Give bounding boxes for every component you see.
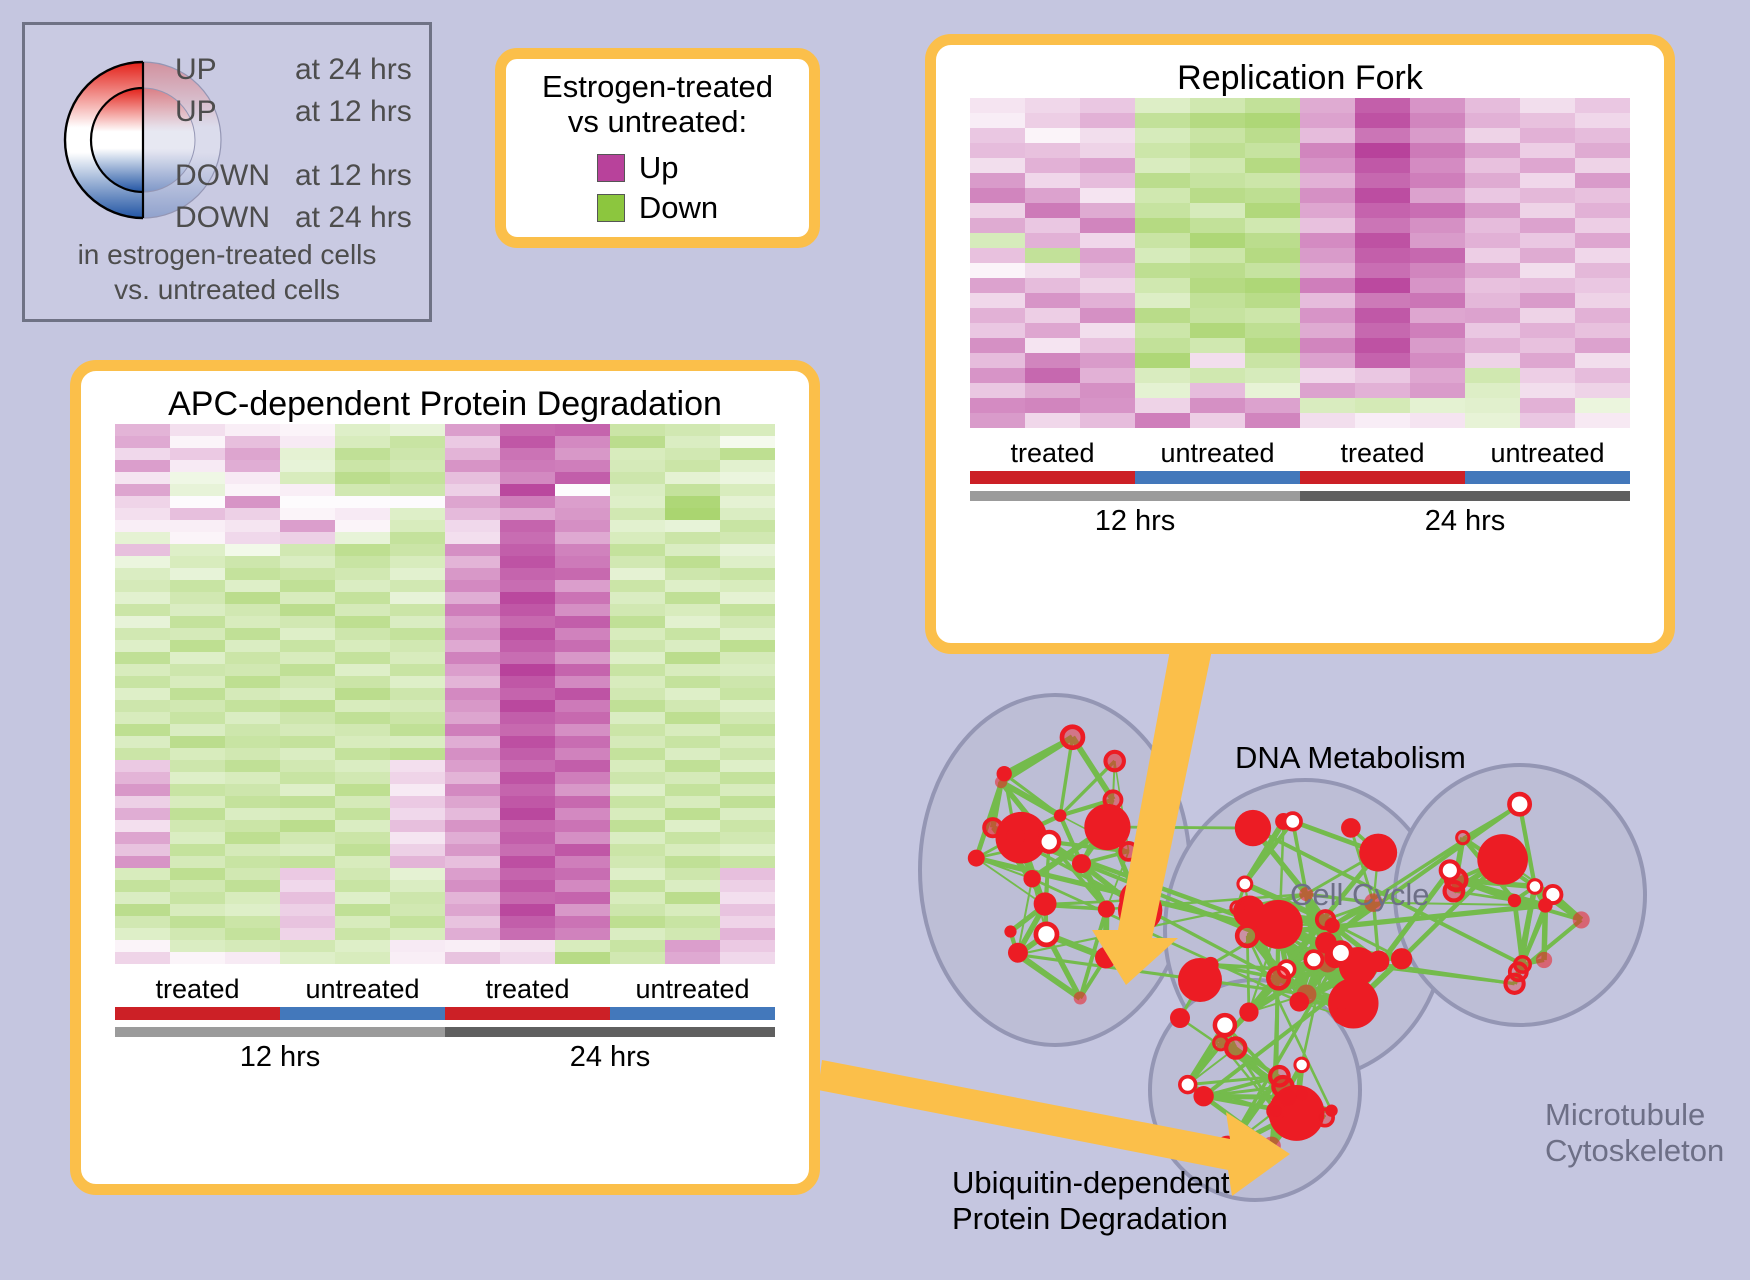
- heatmap-cell: [1245, 233, 1300, 248]
- heatmap-cell: [390, 520, 445, 532]
- heatmap-cell: [390, 832, 445, 844]
- heatmap-cell: [1520, 383, 1575, 398]
- heatmap-cell: [1025, 203, 1080, 218]
- heatmap-cell: [115, 712, 170, 724]
- heatmap-cell: [1135, 338, 1190, 353]
- heatmap-cell: [225, 628, 280, 640]
- network-node: [1368, 951, 1390, 973]
- down-label: Down: [639, 190, 718, 226]
- heatmap-cell: [1410, 293, 1465, 308]
- heatmap-cell: [610, 772, 665, 784]
- heatmap-cell: [1245, 323, 1300, 338]
- heatmap-cell: [1300, 383, 1355, 398]
- network-node: [1098, 901, 1115, 918]
- heatmap-cell: [1080, 323, 1135, 338]
- heatmap-cell: [280, 652, 335, 664]
- heatmap-cell: [665, 556, 720, 568]
- heatmap-cell: [335, 616, 390, 628]
- heatmap-cell: [610, 712, 665, 724]
- heatmap-cell: [1575, 98, 1630, 113]
- heatmap-cell: [225, 832, 280, 844]
- heatmap-cell: [720, 556, 775, 568]
- heatmap-cell: [970, 248, 1025, 263]
- heatmap-cell: [170, 772, 225, 784]
- heatmap-cell: [1080, 368, 1135, 383]
- heatmap-cell: [720, 856, 775, 868]
- heatmap-cell: [555, 916, 610, 928]
- heatmap-cell: [280, 580, 335, 592]
- heatmap-cell: [1355, 413, 1410, 428]
- heatmap-cell: [610, 748, 665, 760]
- heatmap-cell: [335, 556, 390, 568]
- heatmap-cell: [665, 580, 720, 592]
- heatmap-cell: [225, 592, 280, 604]
- heatmap-cell: [1190, 308, 1245, 323]
- heatmap-cell: [1300, 203, 1355, 218]
- heatmap-cell: [1410, 383, 1465, 398]
- heatmap-cell: [115, 916, 170, 928]
- heatmap-cell: [115, 904, 170, 916]
- network-node: [1105, 752, 1123, 770]
- heatmap-cell: [1025, 113, 1080, 128]
- heatmap-cell: [335, 592, 390, 604]
- heatmap-cell: [665, 796, 720, 808]
- rf-cond-1: untreated: [1135, 438, 1300, 469]
- network-node: [1538, 898, 1553, 913]
- network-node: [1006, 827, 1025, 846]
- heatmap-cell: [665, 700, 720, 712]
- replication-fork-heatmap: [970, 98, 1630, 428]
- heatmap-cell: [280, 844, 335, 856]
- heatmap-cell: [1300, 233, 1355, 248]
- heatmap-cell: [610, 736, 665, 748]
- heatmap-cell: [610, 916, 665, 928]
- heatmap-cell: [1520, 338, 1575, 353]
- updown-legend-item-up: Up: [597, 150, 718, 186]
- apc-cond-2: treated: [445, 974, 610, 1005]
- heatmap-cell: [500, 724, 555, 736]
- heatmap-cell: [500, 580, 555, 592]
- heatmap-cell: [1190, 98, 1245, 113]
- heatmap-cell: [1465, 398, 1520, 413]
- heatmap-cell: [1575, 278, 1630, 293]
- heatmap-cell: [720, 784, 775, 796]
- heatmap-cell: [280, 496, 335, 508]
- network-node: [1095, 947, 1117, 969]
- heatmap-cell: [665, 892, 720, 904]
- heatmap-cell: [335, 808, 390, 820]
- heatmap-cell: [610, 940, 665, 952]
- heatmap-cell: [115, 676, 170, 688]
- heatmap-cell: [225, 484, 280, 496]
- heatmap-cell: [720, 508, 775, 520]
- network-node: [1226, 1038, 1245, 1057]
- heatmap-cell: [1355, 218, 1410, 233]
- heatmap-cell: [115, 544, 170, 556]
- heatmap-cell: [500, 832, 555, 844]
- heatmap-cell: [555, 724, 610, 736]
- heatmap-cell: [280, 484, 335, 496]
- heatmap-cell: [500, 532, 555, 544]
- heatmap-cell: [500, 436, 555, 448]
- heatmap-cell: [555, 460, 610, 472]
- rf-cond-0: treated: [970, 438, 1135, 469]
- heatmap-cell: [390, 508, 445, 520]
- heatmap-cell: [170, 760, 225, 772]
- heatmap-cell: [1410, 413, 1465, 428]
- heatmap-cell: [225, 664, 280, 676]
- heatmap-cell: [1300, 248, 1355, 263]
- heatmap-cell: [555, 772, 610, 784]
- rf-cond-3: untreated: [1465, 438, 1630, 469]
- heatmap-cell: [335, 772, 390, 784]
- heatmap-cell: [1410, 368, 1465, 383]
- heatmap-cell: [115, 652, 170, 664]
- network-node: [1341, 818, 1361, 838]
- heatmap-cell: [1025, 323, 1080, 338]
- heatmap-cell: [500, 952, 555, 964]
- heatmap-cell: [1465, 188, 1520, 203]
- heatmap-cell: [665, 928, 720, 940]
- heatmap-cell: [1575, 203, 1630, 218]
- heatmap-cell: [335, 568, 390, 580]
- heatmap-cell: [1465, 263, 1520, 278]
- heatmap-cell: [500, 460, 555, 472]
- heatmap-cell: [720, 700, 775, 712]
- heatmap-cell: [1025, 158, 1080, 173]
- heatmap-cell: [610, 592, 665, 604]
- heatmap-cell: [1355, 278, 1410, 293]
- heatmap-cell: [1080, 158, 1135, 173]
- heatmap-cell: [1410, 308, 1465, 323]
- heatmap-cell: [555, 520, 610, 532]
- heatmap-cell: [170, 448, 225, 460]
- heatmap-cell: [500, 664, 555, 676]
- heatmap-cell: [280, 892, 335, 904]
- heatmap-cell: [720, 736, 775, 748]
- heatmap-cell: [1465, 233, 1520, 248]
- heatmap-cell: [335, 736, 390, 748]
- heatmap-cell: [170, 892, 225, 904]
- heatmap-cell: [1465, 293, 1520, 308]
- heatmap-cell: [445, 676, 500, 688]
- heatmap-cell: [1135, 203, 1190, 218]
- network-node: [1441, 861, 1459, 879]
- heatmap-cell: [720, 496, 775, 508]
- heatmap-cell: [970, 308, 1025, 323]
- network-node: [1215, 1015, 1235, 1035]
- heatmap-cell: [720, 832, 775, 844]
- heatmap-cell: [500, 820, 555, 832]
- heatmap-cell: [1190, 383, 1245, 398]
- network-node: [1508, 894, 1521, 907]
- heatmap-cell: [555, 820, 610, 832]
- heatmap-cell: [115, 568, 170, 580]
- heatmap-cell: [280, 772, 335, 784]
- heatmap-cell: [1300, 353, 1355, 368]
- heatmap-cell: [1245, 158, 1300, 173]
- updown-legend-items: Up Down: [597, 146, 718, 226]
- network-node: [1305, 951, 1322, 968]
- heatmap-cell: [1520, 398, 1575, 413]
- heatmap-cell: [1355, 308, 1410, 323]
- heatmap-cell: [115, 700, 170, 712]
- heatmap-cell: [1190, 188, 1245, 203]
- heatmap-cell: [225, 928, 280, 940]
- heatmap-cell: [390, 640, 445, 652]
- network-node: [1509, 794, 1529, 814]
- heatmap-cell: [335, 784, 390, 796]
- heatmap-cell: [445, 856, 500, 868]
- heatmap-cell: [1520, 323, 1575, 338]
- heatmap-cell: [720, 568, 775, 580]
- heatmap-cell: [225, 880, 280, 892]
- heatmap-cell: [1355, 188, 1410, 203]
- heatmap-cell: [335, 628, 390, 640]
- heatmap-cell: [1245, 338, 1300, 353]
- heatmap-cell: [280, 916, 335, 928]
- heatmap-cell: [1245, 383, 1300, 398]
- heatmap-cell: [1575, 218, 1630, 233]
- heatmap-cell: [225, 604, 280, 616]
- heatmap-cell: [1135, 353, 1190, 368]
- heatmap-cell: [1080, 308, 1135, 323]
- heatmap-cell: [1135, 248, 1190, 263]
- heatmap-cell: [555, 640, 610, 652]
- heatmap-cell: [280, 748, 335, 760]
- heatmap-cell: [170, 832, 225, 844]
- heatmap-cell: [555, 712, 610, 724]
- heatmap-cell: [720, 628, 775, 640]
- heatmap-cell: [970, 353, 1025, 368]
- heatmap-cell: [1465, 383, 1520, 398]
- heatmap-cell: [445, 772, 500, 784]
- heatmap-cell: [1575, 128, 1630, 143]
- heatmap-cell: [720, 472, 775, 484]
- heatmap-cell: [1410, 143, 1465, 158]
- network-node: [1170, 1008, 1190, 1028]
- heatmap-cell: [335, 712, 390, 724]
- heatmap-cell: [1245, 368, 1300, 383]
- heatmap-cell: [335, 904, 390, 916]
- heatmap-cell: [390, 880, 445, 892]
- heatmap-cell: [500, 892, 555, 904]
- heatmap-cell: [225, 808, 280, 820]
- apc-heatmap: [115, 424, 775, 964]
- heatmap-cell: [665, 640, 720, 652]
- heatmap-cell: [1300, 293, 1355, 308]
- heatmap-cell: [1575, 293, 1630, 308]
- heatmap-cell: [1080, 113, 1135, 128]
- heatmap-cell: [720, 772, 775, 784]
- network-node: [1231, 902, 1243, 914]
- heatmap-cell: [225, 616, 280, 628]
- heatmap-cell: [1080, 263, 1135, 278]
- heatmap-cell: [225, 640, 280, 652]
- heatmap-cell: [665, 844, 720, 856]
- heatmap-cell: [1300, 308, 1355, 323]
- heatmap-cell: [335, 868, 390, 880]
- heatmap-cell: [1135, 128, 1190, 143]
- heatmap-cell: [115, 628, 170, 640]
- heatmap-cell: [1355, 383, 1410, 398]
- rf-bar-treated-24: [1300, 471, 1465, 484]
- apc-cond-3: untreated: [610, 974, 775, 1005]
- heatmap-cell: [445, 544, 500, 556]
- heatmap-cell: [390, 544, 445, 556]
- heatmap-cell: [445, 460, 500, 472]
- network-node: [1203, 957, 1219, 973]
- heatmap-cell: [610, 496, 665, 508]
- heatmap-cell: [225, 892, 280, 904]
- heatmap-cell: [390, 580, 445, 592]
- heatmap-cell: [1410, 158, 1465, 173]
- heatmap-cell: [280, 640, 335, 652]
- heatmap-cell: [280, 808, 335, 820]
- apc-bar-24hrs: [445, 1027, 775, 1037]
- heatmap-cell: [170, 688, 225, 700]
- heatmap-cell: [170, 808, 225, 820]
- heatmap-cell: [970, 368, 1025, 383]
- heatmap-cell: [445, 868, 500, 880]
- heatmap-cell: [665, 508, 720, 520]
- heatmap-cell: [555, 484, 610, 496]
- heatmap-cell: [500, 508, 555, 520]
- heatmap-cell: [335, 676, 390, 688]
- heatmap-cell: [170, 700, 225, 712]
- heatmap-cell: [115, 460, 170, 472]
- heatmap-cell: [555, 832, 610, 844]
- heatmap-cell: [610, 568, 665, 580]
- heatmap-cell: [225, 472, 280, 484]
- heatmap-cell: [555, 760, 610, 772]
- apc-bar-untreated-24: [610, 1007, 775, 1020]
- heatmap-cell: [280, 556, 335, 568]
- network-node: [1238, 877, 1252, 891]
- heatmap-cell: [170, 796, 225, 808]
- heatmap-cell: [970, 398, 1025, 413]
- heatmap-cell: [335, 940, 390, 952]
- heatmap-cell: [1520, 233, 1575, 248]
- heatmap-cell: [1245, 173, 1300, 188]
- heatmap-cell: [225, 700, 280, 712]
- heatmap-cell: [555, 688, 610, 700]
- heatmap-cell: [445, 616, 500, 628]
- network-node: [1505, 975, 1523, 993]
- heatmap-cell: [115, 520, 170, 532]
- colorwheel-time-up24: at 24 hrs: [295, 53, 412, 87]
- heatmap-cell: [970, 113, 1025, 128]
- heatmap-cell: [1080, 293, 1135, 308]
- heatmap-cell: [665, 532, 720, 544]
- heatmap-cell: [225, 844, 280, 856]
- heatmap-cell: [335, 892, 390, 904]
- heatmap-cell: [1135, 143, 1190, 158]
- heatmap-cell: [1520, 143, 1575, 158]
- network-node: [1317, 1109, 1333, 1125]
- heatmap-cell: [170, 568, 225, 580]
- heatmap-cell: [555, 544, 610, 556]
- heatmap-cell: [335, 880, 390, 892]
- heatmap-cell: [445, 940, 500, 952]
- replication-fork-time-bar: [970, 491, 1630, 501]
- heatmap-cell: [390, 928, 445, 940]
- heatmap-cell: [555, 472, 610, 484]
- rf-bar-treated-12: [970, 471, 1135, 484]
- heatmap-cell: [445, 424, 500, 436]
- heatmap-cell: [335, 928, 390, 940]
- colorwheel-dir-down24: DOWN: [175, 201, 295, 235]
- heatmap-cell: [335, 448, 390, 460]
- heatmap-cell: [445, 580, 500, 592]
- heatmap-cell: [720, 604, 775, 616]
- heatmap-cell: [170, 484, 225, 496]
- heatmap-cell: [445, 688, 500, 700]
- heatmap-cell: [555, 676, 610, 688]
- heatmap-cell: [610, 784, 665, 796]
- heatmap-cell: [1080, 398, 1135, 413]
- heatmap-cell: [500, 796, 555, 808]
- heatmap-cell: [1520, 263, 1575, 278]
- heatmap-cell: [1410, 233, 1465, 248]
- heatmap-cell: [1575, 113, 1630, 128]
- heatmap-cell: [390, 904, 445, 916]
- network-node: [1072, 854, 1091, 873]
- heatmap-cell: [170, 748, 225, 760]
- heatmap-cell: [1025, 143, 1080, 158]
- heatmap-cell: [665, 592, 720, 604]
- heatmap-cell: [1575, 233, 1630, 248]
- heatmap-cell: [610, 472, 665, 484]
- network-node: [1477, 834, 1528, 885]
- heatmap-cell: [390, 760, 445, 772]
- heatmap-cell: [665, 868, 720, 880]
- heatmap-cell: [390, 820, 445, 832]
- heatmap-cell: [1080, 248, 1135, 263]
- heatmap-cell: [280, 868, 335, 880]
- heatmap-cell: [390, 796, 445, 808]
- heatmap-cell: [335, 760, 390, 772]
- heatmap-cell: [390, 652, 445, 664]
- heatmap-cell: [280, 520, 335, 532]
- heatmap-cell: [1080, 278, 1135, 293]
- heatmap-cell: [720, 592, 775, 604]
- heatmap-cell: [390, 532, 445, 544]
- heatmap-cell: [1245, 398, 1300, 413]
- heatmap-cell: [335, 436, 390, 448]
- heatmap-cell: [610, 604, 665, 616]
- network-node: [1036, 924, 1057, 945]
- heatmap-cell: [665, 652, 720, 664]
- heatmap-cell: [170, 928, 225, 940]
- heatmap-cell: [720, 724, 775, 736]
- heatmap-cell: [1190, 173, 1245, 188]
- heatmap-cell: [1080, 173, 1135, 188]
- heatmap-cell: [1465, 158, 1520, 173]
- heatmap-cell: [500, 424, 555, 436]
- colorwheel-time-down12: at 12 hrs: [295, 159, 412, 193]
- heatmap-cell: [555, 556, 610, 568]
- heatmap-cell: [610, 484, 665, 496]
- heatmap-cell: [665, 688, 720, 700]
- heatmap-cell: [280, 928, 335, 940]
- heatmap-cell: [1080, 188, 1135, 203]
- rf-time-24: 24 hrs: [1300, 505, 1630, 538]
- heatmap-cell: [1245, 263, 1300, 278]
- heatmap-cell: [280, 436, 335, 448]
- heatmap-cell: [1465, 203, 1520, 218]
- heatmap-cell: [1410, 278, 1465, 293]
